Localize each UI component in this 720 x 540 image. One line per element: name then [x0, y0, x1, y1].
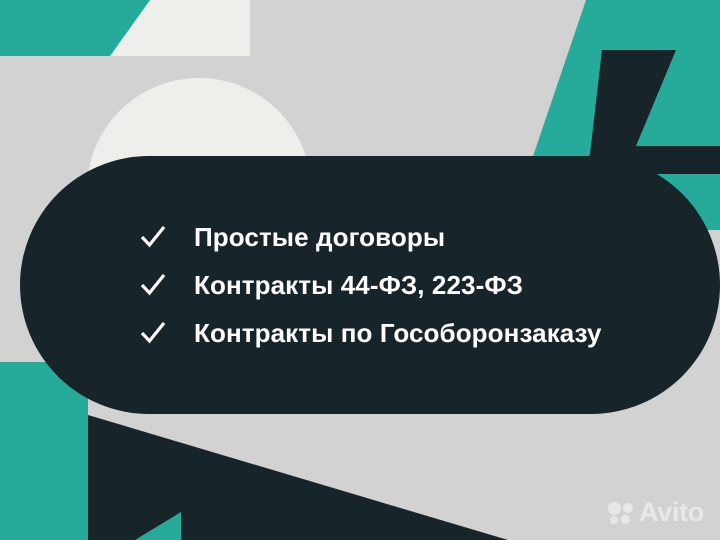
feature-item: Контракты по Гособоронзаказу	[138, 309, 720, 357]
avito-dot-small	[610, 516, 618, 524]
feature-list-panel: Простые договоры Контракты 44-ФЗ, 223-ФЗ…	[20, 156, 720, 414]
avito-dot-tiny	[621, 515, 630, 524]
feature-label: Контракты 44-ФЗ, 223-ФЗ	[194, 272, 523, 298]
feature-label: Контракты по Гособоронзаказу	[194, 320, 602, 346]
avito-wordmark: Avito	[639, 499, 704, 526]
check-icon	[138, 222, 168, 252]
avito-dot-medium	[623, 503, 633, 513]
feature-label: Простые договоры	[194, 224, 445, 250]
feature-item: Контракты 44-ФЗ, 223-ФЗ	[138, 261, 720, 309]
avito-logo-icon	[608, 502, 634, 524]
check-icon	[138, 270, 168, 300]
feature-item: Простые договоры	[138, 213, 720, 261]
check-icon	[138, 318, 168, 348]
promo-banner: Простые договоры Контракты 44-ФЗ, 223-ФЗ…	[0, 0, 720, 540]
avito-watermark: Avito	[608, 499, 704, 526]
avito-dot-large	[608, 502, 621, 515]
